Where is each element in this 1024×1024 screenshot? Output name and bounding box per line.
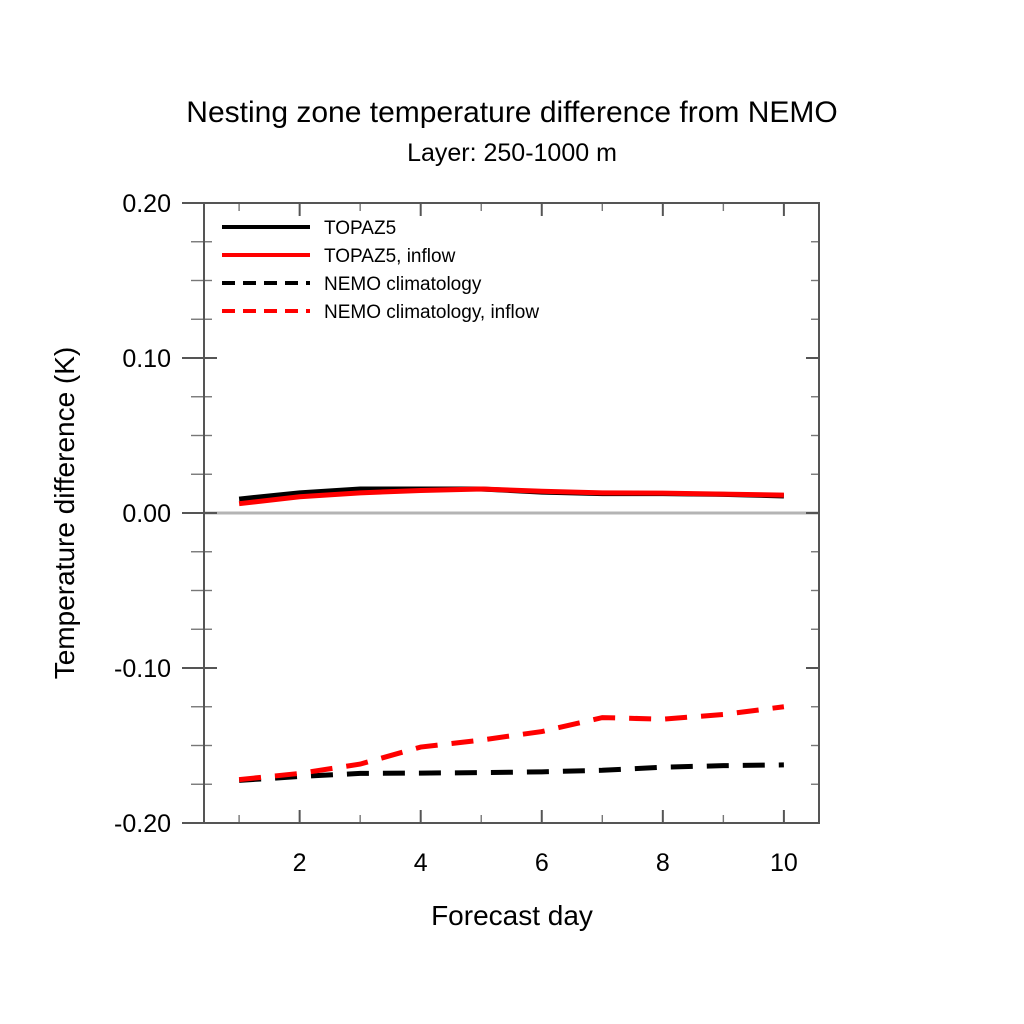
x-axis-label: Forecast day <box>431 900 593 931</box>
chart-subtitle: Layer: 250-1000 m <box>407 139 617 167</box>
x-tick-label: 4 <box>414 849 428 877</box>
series-line-3 <box>239 707 784 780</box>
x-tick-labels: 246810 <box>293 849 798 877</box>
legend-label-3: NEMO climatology, inflow <box>324 302 539 323</box>
y-tick-labels: 0.200.100.00-0.10-0.20 <box>114 190 171 838</box>
y-tick-label: 0.20 <box>122 190 171 218</box>
chart-figure: Nesting zone temperature difference from… <box>0 0 1024 1024</box>
y-axis-label: Temperature difference (K) <box>49 347 80 680</box>
chart-legend: TOPAZ5TOPAZ5, inflowNEMO climatologyNEMO… <box>222 218 539 323</box>
y-tick-label: 0.10 <box>122 345 171 373</box>
y-tick-label: 0.00 <box>122 500 171 528</box>
y-tick-label: -0.20 <box>114 810 171 838</box>
data-series-group <box>239 489 784 780</box>
line-chart: Nesting zone temperature difference from… <box>0 0 1024 1024</box>
x-tick-label: 6 <box>535 849 549 877</box>
legend-label-2: NEMO climatology <box>324 274 482 295</box>
chart-title: Nesting zone temperature difference from… <box>186 96 837 129</box>
y-tick-label: -0.10 <box>114 655 171 683</box>
x-tick-label: 2 <box>293 849 307 877</box>
legend-label-1: TOPAZ5, inflow <box>324 246 456 267</box>
x-tick-label: 10 <box>770 849 798 877</box>
x-tick-label: 8 <box>656 849 670 877</box>
legend-label-0: TOPAZ5 <box>324 218 396 239</box>
